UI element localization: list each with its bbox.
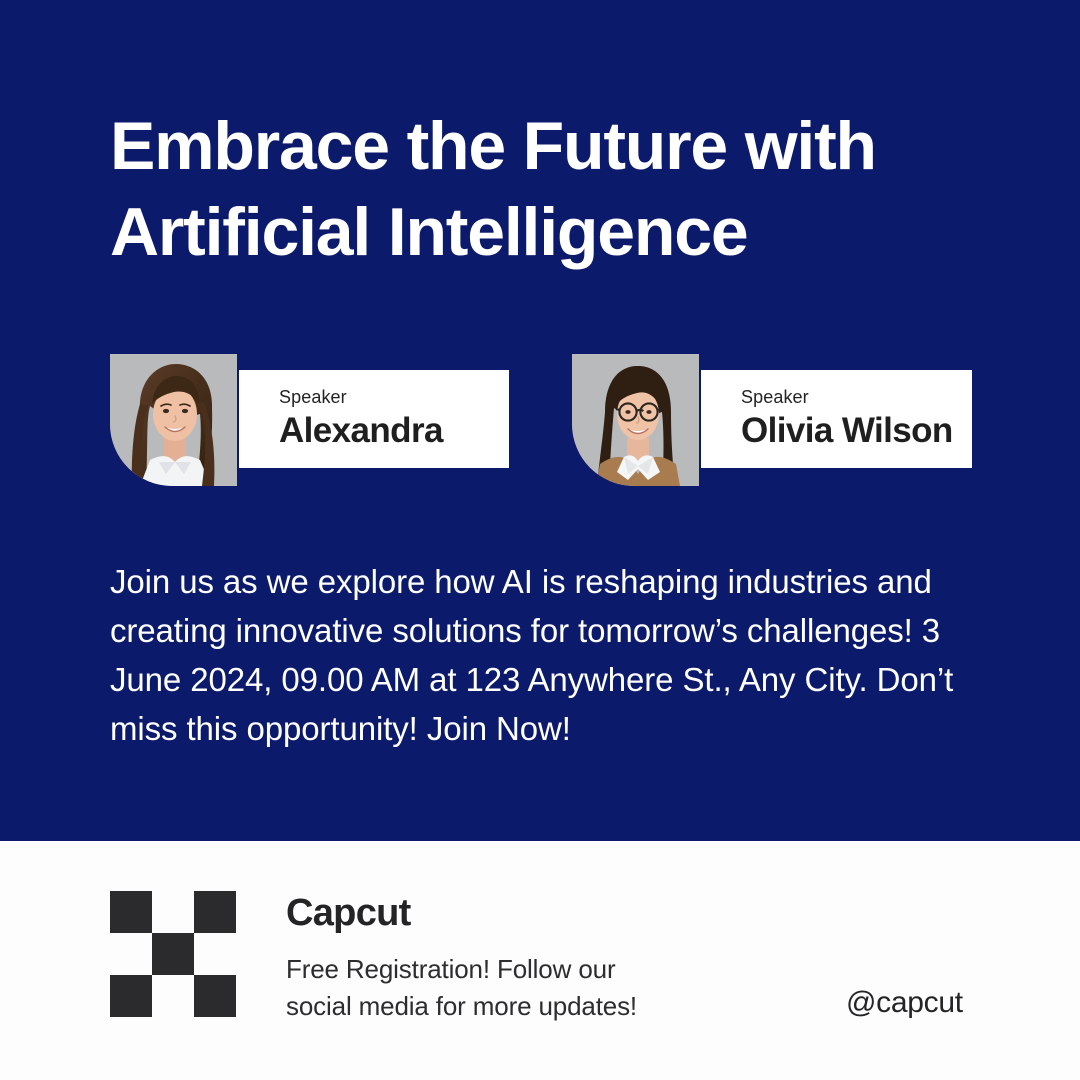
brand-name: Capcut — [286, 893, 411, 935]
speaker-card-list: Speaker Alexandra — [110, 354, 980, 486]
page-title-line-1: Embrace the Future with — [110, 104, 1010, 190]
checkerboard-x-logo-icon — [110, 891, 236, 1017]
poster-canvas: Embrace the Future with Artificial Intel… — [0, 0, 1080, 1080]
speaker-info-panel: Speaker Alexandra — [239, 370, 509, 468]
speaker-card[interactable]: Speaker Alexandra — [110, 354, 509, 486]
social-handle[interactable]: @capcut — [846, 986, 963, 1019]
speaker-avatar — [110, 354, 237, 486]
speaker-avatar — [572, 354, 699, 486]
footer-tagline: Free Registration! Follow our social med… — [286, 951, 716, 1026]
speaker-name: Olivia Wilson — [741, 413, 972, 450]
speaker-name: Alexandra — [279, 413, 509, 450]
speaker-role: Speaker — [741, 388, 972, 408]
speaker-card[interactable]: Speaker Olivia Wilson — [572, 354, 972, 486]
page-title: Embrace the Future with Artificial Intel… — [110, 104, 1010, 275]
speaker-role: Speaker — [279, 388, 509, 408]
footer-tagline-line-2: social media for more updates! — [286, 991, 637, 1021]
page-title-line-2: Artificial Intelligence — [110, 190, 1010, 276]
event-description: Join us as we explore how AI is reshapin… — [110, 557, 990, 754]
speaker-info-panel: Speaker Olivia Wilson — [701, 370, 972, 468]
footer-tagline-line-1: Free Registration! Follow our — [286, 954, 615, 984]
